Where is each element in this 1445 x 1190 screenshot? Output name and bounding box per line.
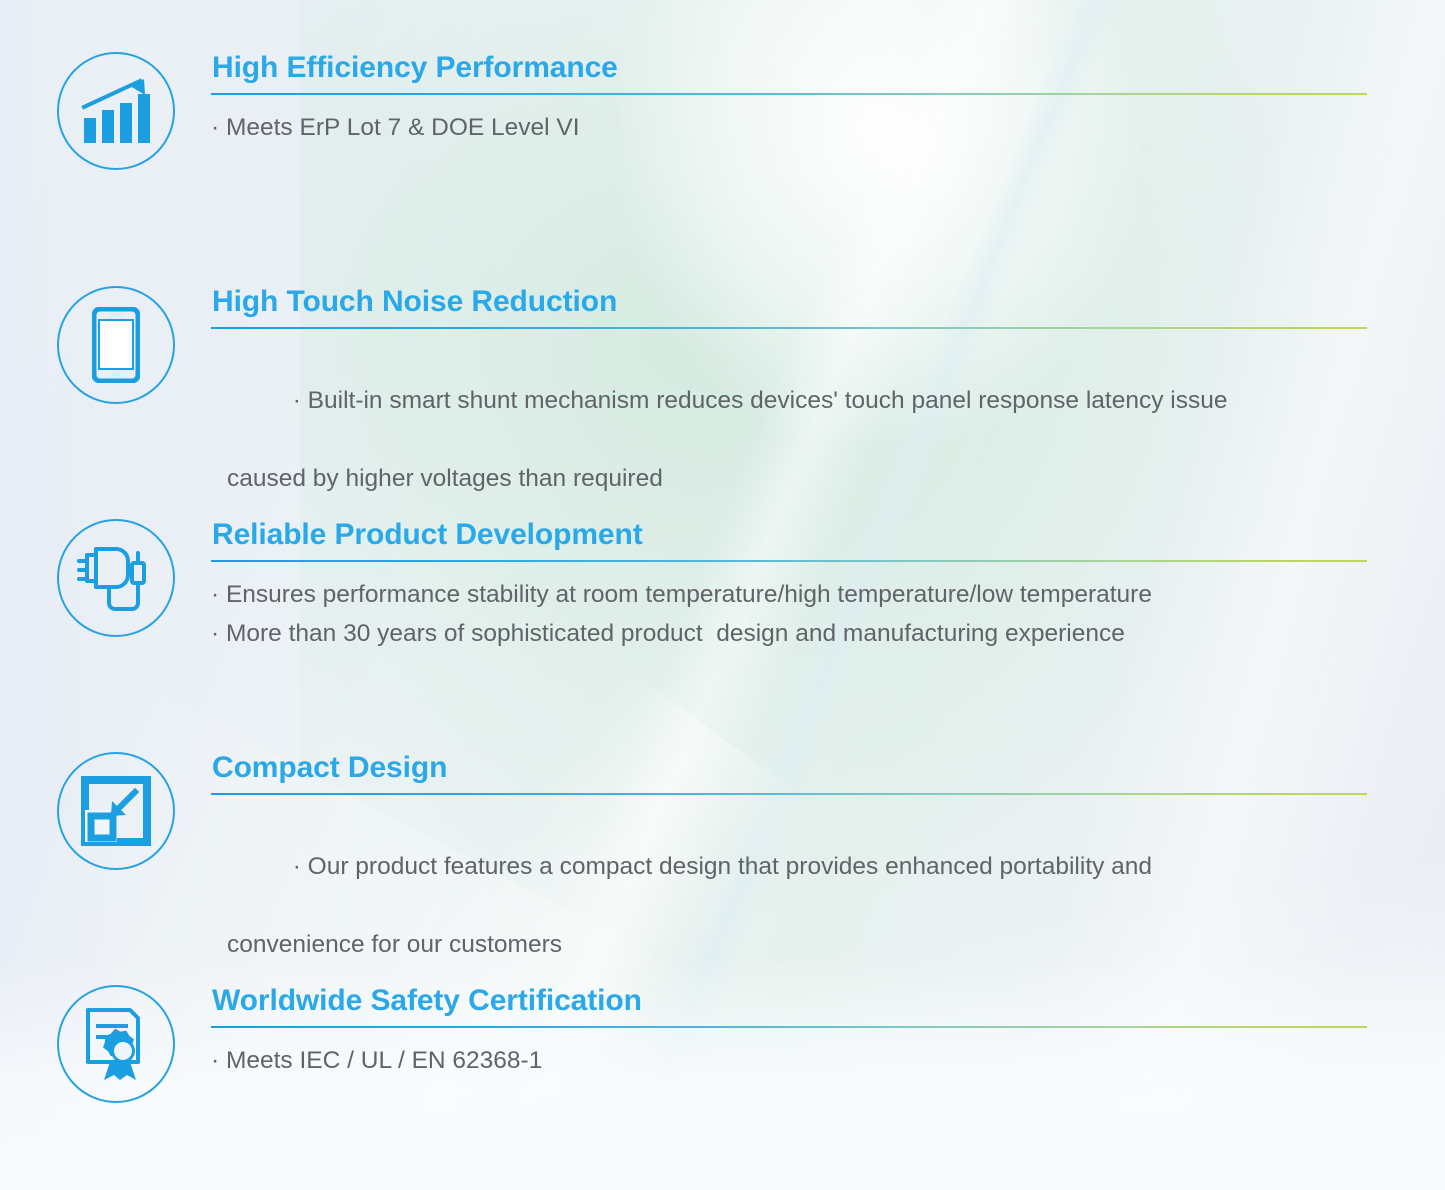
feature-title: Compact Design	[211, 752, 1371, 784]
feature-divider	[211, 93, 1367, 95]
feature-title: High Efficiency Performance	[211, 52, 1371, 84]
feature-bullets: · Meets ErP Lot 7 & DOE Level VI	[211, 108, 1371, 147]
feature-divider	[211, 560, 1367, 562]
feature-divider	[211, 1026, 1367, 1028]
feature-bullet: · More than 30 years of sophisticated pr…	[211, 614, 1371, 653]
feature-body: High Efficiency Performance · Meets ErP …	[211, 52, 1371, 147]
feature-bullet: · Meets IEC / UL / EN 62368-1	[211, 1041, 1371, 1080]
feature-title: High Touch Noise Reduction	[211, 286, 1371, 318]
feature-bullet-line: · Our product features a compact design …	[293, 853, 1152, 880]
feature-divider	[211, 327, 1367, 329]
feature-body: Worldwide Safety Certification · Meets I…	[211, 985, 1371, 1080]
feature-title: Worldwide Safety Certification	[211, 985, 1371, 1017]
feature-bullet-line: convenience for our customers	[211, 925, 1371, 964]
feature-bullet-line: · Built-in smart shunt mechanism reduces…	[293, 387, 1228, 414]
feature-bullet-line: caused by higher voltages than required	[211, 459, 1371, 498]
feature-bullets: · Meets IEC / UL / EN 62368-1	[211, 1041, 1371, 1080]
power-adapter-icon	[57, 519, 175, 637]
feature-bullet: · Meets ErP Lot 7 & DOE Level VI	[211, 108, 1371, 147]
bar-chart-growth-icon	[57, 52, 175, 170]
certificate-award-icon	[57, 985, 175, 1103]
feature-list: High Efficiency Performance · Meets ErP …	[0, 0, 1445, 1190]
feature-divider	[211, 793, 1367, 795]
feature-title: Reliable Product Development	[211, 519, 1371, 551]
feature-highlights-page: High Efficiency Performance · Meets ErP …	[0, 0, 1445, 1190]
feature-bullets: · Ensures performance stability at room …	[211, 575, 1371, 653]
compact-resize-icon	[57, 752, 175, 870]
feature-bullet: · Ensures performance stability at room …	[211, 575, 1371, 614]
feature-body: Reliable Product Development · Ensures p…	[211, 519, 1371, 653]
smartphone-icon	[57, 286, 175, 404]
